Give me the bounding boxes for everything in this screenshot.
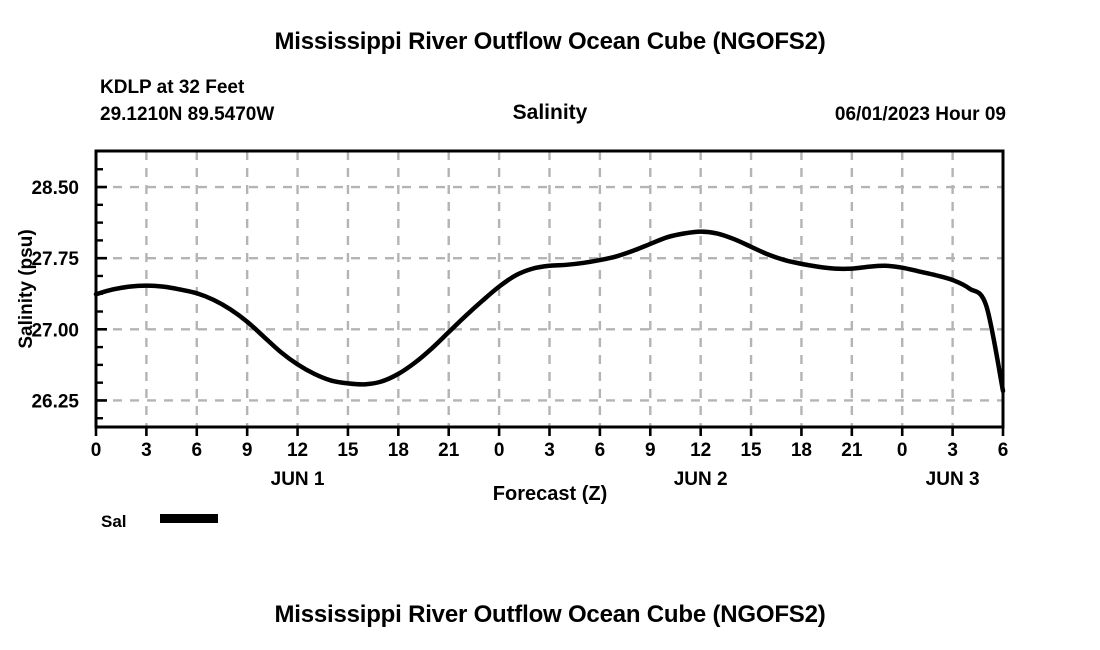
x-tick-label: 18 — [791, 440, 812, 461]
x-tick-label: 3 — [141, 440, 152, 461]
x-tick-label: 6 — [998, 440, 1009, 461]
grid-lines — [96, 151, 1003, 427]
legend-line-swatch — [160, 514, 218, 523]
y-tick-label: 27.75 — [31, 249, 79, 270]
page-title-bottom: Mississippi River Outflow Ocean Cube (NG… — [0, 601, 1100, 629]
x-axis-title: Forecast (Z) — [493, 483, 607, 505]
y-tick-labels: 26.2527.0027.7528.50 — [31, 178, 79, 412]
day-label: JUN 3 — [926, 469, 980, 490]
x-tick-label: 3 — [947, 440, 958, 461]
x-tick-label: 18 — [388, 440, 409, 461]
salinity-plot: 26.2527.0027.7528.50 0369121518210369121… — [0, 0, 1100, 560]
x-tick-label: 9 — [242, 440, 253, 461]
day-labels: JUN 1JUN 2JUN 3 — [271, 469, 980, 490]
x-tick-label: 9 — [645, 440, 656, 461]
day-label: JUN 1 — [271, 469, 325, 490]
x-tick-label: 12 — [287, 440, 308, 461]
y-tick-label: 27.00 — [31, 320, 79, 341]
chart-page: Mississippi River Outflow Ocean Cube (NG… — [0, 0, 1100, 650]
x-tick-label: 15 — [337, 440, 359, 461]
x-tick-label: 21 — [841, 440, 863, 461]
y-tick-label: 28.50 — [31, 178, 79, 199]
y-axis-title: Salinity (psu) — [16, 229, 37, 348]
x-tick-label: 3 — [544, 440, 555, 461]
x-tick-label: 15 — [740, 440, 762, 461]
x-tick-label: 6 — [191, 440, 202, 461]
legend-series-label: Sal — [101, 512, 127, 531]
plot-svg: 26.2527.0027.7528.50 0369121518210369121… — [0, 0, 1100, 560]
x-tick-labels: 036912151821036912151821036 — [91, 440, 1009, 461]
x-tick-label: 21 — [438, 440, 460, 461]
y-tick-label: 26.25 — [31, 391, 79, 412]
x-tick-label: 0 — [494, 440, 505, 461]
x-tick-label: 0 — [897, 440, 908, 461]
x-tick-label: 0 — [91, 440, 102, 461]
x-tick-label: 12 — [690, 440, 711, 461]
day-label: JUN 2 — [674, 469, 728, 490]
x-tick-label: 6 — [595, 440, 606, 461]
